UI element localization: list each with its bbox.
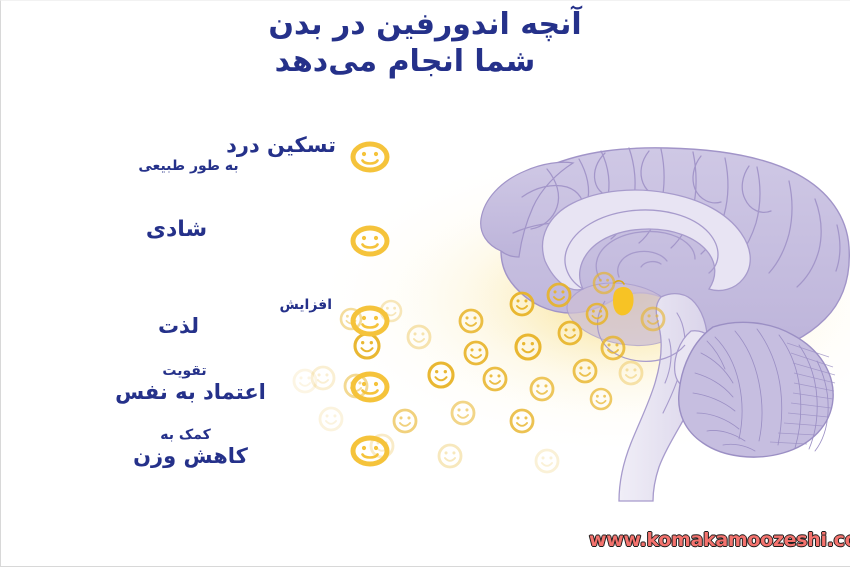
list-item-secondary: تقویت (39, 363, 342, 380)
smiley-particle (460, 310, 482, 332)
smiley-particle (465, 342, 487, 364)
list-item-text: شادی (39, 217, 348, 243)
list-item: کمک به کاهش وزن (39, 427, 390, 479)
smiley-particle (511, 410, 533, 432)
smiley-particle (591, 389, 611, 409)
smiley-particle (642, 308, 664, 330)
smiley-particle (511, 293, 533, 315)
list-item-primary: لذت (39, 314, 342, 339)
list-item-secondary: کمک به (39, 427, 342, 444)
smiley-particle (531, 378, 553, 400)
pituitary-gland (613, 287, 634, 315)
list-item: تقویت اعتماد به نفس (39, 363, 390, 415)
smiley-face-icon (352, 141, 390, 171)
list-item: تسکین درد به طور طبیعی (39, 133, 390, 185)
smiley-particle (602, 337, 624, 359)
site-watermark: www.komakamoozeshi.com (589, 529, 850, 551)
smiley-particle (587, 304, 607, 324)
list-item-primary: شادی (39, 217, 342, 243)
list-item: شادی (39, 217, 390, 269)
smiley-particle (429, 363, 453, 387)
page-title: آنچه اندورفین در بدن شما انجام می‌دهد (190, 7, 660, 80)
smiley-face-icon (352, 435, 390, 465)
smiley-particle (452, 402, 474, 424)
smiley-particle (516, 335, 540, 359)
list-item-primary: اعتماد به نفس (39, 380, 342, 405)
smiley-particle (439, 445, 461, 467)
list-item-text: کمک به کاهش وزن (39, 427, 348, 468)
list-item-secondary: به طور طبیعی (39, 158, 342, 175)
smiley-face-icon (352, 305, 390, 335)
infographic-canvas: آنچه اندورفین در بدن شما انجام می‌دهد تس… (0, 0, 850, 567)
smiley-particle (394, 410, 416, 432)
list-item-text: افزایش لذت (39, 297, 348, 338)
benefit-list: تسکین درد به طور طبیعی شادی (39, 133, 390, 479)
endorphin-glow (321, 151, 850, 451)
smiley-particle (620, 362, 642, 384)
title-line-1: آنچه اندورفین در بدن (190, 7, 660, 44)
smiley-particle (559, 322, 581, 344)
list-item-secondary: افزایش (39, 297, 342, 314)
smiley-particle (548, 284, 570, 306)
smiley-particle (408, 326, 430, 348)
list-item-primary: کاهش وزن (39, 444, 342, 469)
smiley-particle (574, 360, 596, 382)
brain-sagittal-cross-section (481, 148, 850, 501)
list-item-text: تسکین درد به طور طبیعی (39, 133, 348, 174)
title-line-2: شما انجام می‌دهد (190, 44, 660, 81)
smiley-particle (484, 368, 506, 390)
list-item-primary: تسکین درد (39, 133, 342, 158)
list-item: افزایش لذت (39, 297, 390, 349)
smiley-face-icon (352, 371, 390, 401)
smiley-particle (536, 450, 558, 472)
list-item-text: تقویت اعتماد به نفس (39, 363, 348, 404)
smiley-particle (594, 273, 614, 293)
smiley-face-icon (352, 225, 390, 255)
